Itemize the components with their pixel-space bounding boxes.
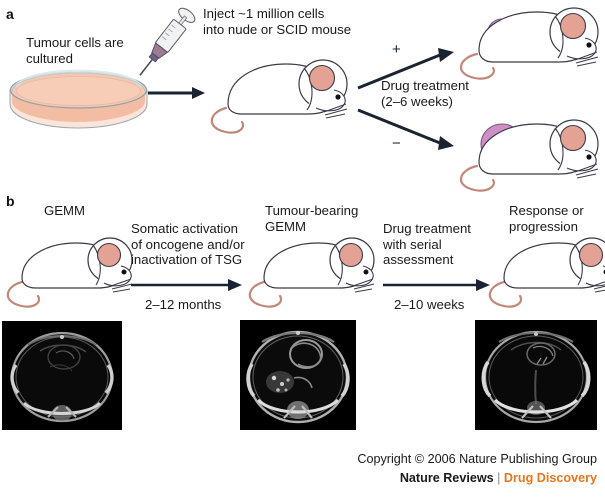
mri-scan-baseline xyxy=(2,321,122,430)
mouse-gemm xyxy=(8,232,138,318)
arrow-drug-treatment-serial xyxy=(383,278,491,292)
caption-gemm: GEMM xyxy=(44,203,164,219)
plus-sign: + xyxy=(392,42,401,57)
caption-response-progression: Response or progression xyxy=(509,203,605,234)
panel-b-label: b xyxy=(6,193,15,209)
caption-somatic-duration: 2–12 months xyxy=(145,297,265,313)
caption-inject-cells: Inject ~1 million cells into nude or SCI… xyxy=(203,6,413,37)
mri-scan-tumour-bearing xyxy=(240,320,356,430)
caption-somatic-activation: Somatic activation of oncogene and/or in… xyxy=(131,221,261,268)
mouse-injected xyxy=(212,52,352,144)
arrow-somatic-activation xyxy=(131,278,243,292)
panel-a-label: a xyxy=(6,6,14,22)
arrow-drug-treatment-negative xyxy=(358,108,456,150)
petri-dish xyxy=(6,68,151,130)
journal-separator: | xyxy=(497,471,500,485)
copyright-text: Copyright © 2006 Nature Publishing Group xyxy=(0,452,597,466)
caption-tumour-bearing-gemm: Tumour-bearing GEMM xyxy=(265,203,385,234)
mouse-response xyxy=(490,232,605,318)
caption-drug-treatment-serial: Drug treatment with serial assessment xyxy=(383,221,503,268)
mouse-large-tumour xyxy=(455,112,603,194)
arrow-dish-to-mouse xyxy=(148,85,206,101)
mouse-tumour-bearing-gemm xyxy=(250,232,380,318)
journal-title: Nature Reviews xyxy=(400,471,494,485)
minus-sign: − xyxy=(392,136,401,151)
caption-tumour-cells-cultured: Tumour cells are cultured xyxy=(26,35,166,66)
journal-subtitle: Drug Discovery xyxy=(504,471,597,485)
mri-scan-post-treatment xyxy=(475,320,597,430)
mouse-small-tumour xyxy=(455,2,603,82)
caption-drug-treatment-weeks: Drug treatment (2–6 weeks) xyxy=(381,78,501,109)
journal-branding: Nature Reviews | Drug Discovery xyxy=(0,471,597,485)
figure-root: a Tumour cells are cultured Inject ~1 mi… xyxy=(0,0,605,499)
